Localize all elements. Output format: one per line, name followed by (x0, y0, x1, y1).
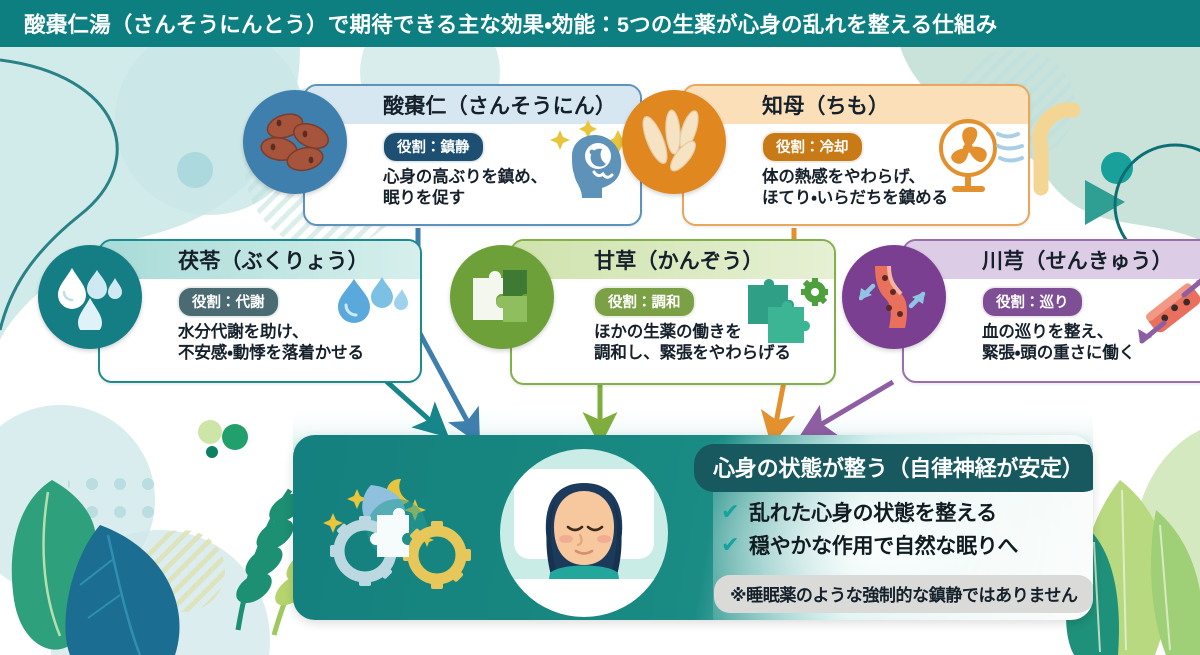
desc-line-2: 調和し、緊張をやわらげる (594, 343, 822, 364)
root-slices-icon (622, 90, 726, 194)
desc-line-2: 不安感・動悸を落着かせる (178, 343, 408, 364)
role-badge-senkyuu: 役割：巡り (982, 287, 1083, 317)
herb-name-chimo: 知母（ちも） (762, 90, 889, 120)
outcome-panel: 心身の状態が整う（自律神経が安定） ✔ 乱れた心身の状態を整える ✔ 穏やかな作… (293, 435, 1093, 620)
fan-breeze-icon (930, 118, 1026, 198)
bullet-text: 穏やかな作用で自然な眠りへ (749, 530, 1018, 560)
outcome-note: ※睡眠薬のような強制的な鎮静ではありません (714, 575, 1093, 613)
bullet-item: ✔ 穏やかな作用で自然な眠りへ (721, 530, 1018, 560)
bullet-text: 乱れた心身の状態を整える (749, 497, 997, 527)
role-badge-bukuryou: 役割：代謝 (178, 287, 279, 317)
herb-name-senkyuu: 川芎（せんきゅう） (982, 245, 1173, 275)
water-drops-icon (38, 245, 142, 349)
bullet-item: ✔ 乱れた心身の状態を整える (721, 497, 1018, 527)
vessel-arrows-icon (1128, 273, 1200, 345)
card-content-chimo: 役割：冷却 体の熱感をやわらげ、 ほてり・いらだちを鎮める (684, 124, 1028, 220)
card-content-bukuryou: 役割：代謝 水分代謝を助け、 不安感・動悸を落着かせる (100, 279, 420, 375)
role-badge-kanzou: 役割：調和 (594, 287, 695, 317)
header-bar: 酸棗仁湯（さんそうにんとう）で期待できる主な効果・効能：5つの生薬が心身の乱れを… (0, 0, 1200, 47)
seeds-icon (243, 90, 347, 194)
puzzle-gear-icon (742, 275, 828, 343)
outcome-bullets: ✔ 乱れた心身の状態を整える ✔ 穏やかな作用で自然な眠りへ (721, 497, 1018, 563)
card-body-senkyuu: 川芎（せんきゅう） 役割：巡り 血の巡りを整え、 緊張・頭の重さに働く (902, 239, 1200, 383)
infographic-canvas: 酸棗仁湯（さんそうにんとう）で期待できる主な効果・効能：5つの生薬が心身の乱れを… (0, 0, 1200, 655)
card-content-sansounin: 役割：鎮静 心身の高ぶりを鎮め、 眠りを促す (305, 124, 640, 220)
card-content-kanzou: 役割：調和 ほかの生薬の働きを 調和し、緊張をやわらげる (512, 279, 834, 375)
herb-name-kanzou: 甘草（かんぞう） (594, 245, 764, 275)
sleeping-woman-icon (498, 447, 670, 619)
desc-line-2: 緊張・頭の重さに働く (982, 343, 1200, 364)
blood-vessel-icon (842, 245, 946, 349)
page-title: 酸棗仁湯（さんそうにんとう）で期待できる主な効果・効能：5つの生薬が心身の乱れを… (24, 8, 997, 39)
card-body-bukuryou: 茯苓（ぶくりょう） 役割：代謝 水分代謝を助け、 不安感・動悸を落着かせる (98, 239, 422, 383)
check-icon: ✔ (721, 534, 749, 556)
card-body-chimo: 知母（ちも） 役割：冷却 体の熱感をやわらげ、 ほてり・いらだちを鎮める (682, 84, 1030, 226)
arrow-senkyuu (815, 382, 893, 428)
card-body-kanzou: 甘草（かんぞう） 役割：調和 ほかの生薬の働きを 調和し、緊張をやわらげる (510, 239, 836, 385)
check-icon: ✔ (721, 501, 749, 523)
droplets-icon (330, 275, 410, 339)
card-header-bukuryou: 茯苓（ぶくりょう） (100, 241, 420, 279)
card-body-sansounin: 酸棗仁（さんそうにん） 役割：鎮静 心身の高ぶりを鎮め、 眠りを促す (303, 84, 642, 226)
card-content-senkyuu: 役割：巡り 血の巡りを整え、 緊張・頭の重さに働く (904, 279, 1200, 375)
puzzle-icon (450, 245, 554, 349)
outcome-title: 心身の状態が整う（自律神経が安定） (694, 444, 1093, 492)
head-sleep-stars-icon (542, 116, 632, 202)
role-badge-sansounin: 役割：鎮静 (383, 132, 484, 162)
card-header-kanzou: 甘草（かんぞう） (512, 241, 834, 279)
herb-name-bukuryou: 茯苓（ぶくりょう） (178, 245, 369, 275)
role-badge-chimo: 役割：冷却 (762, 132, 863, 162)
